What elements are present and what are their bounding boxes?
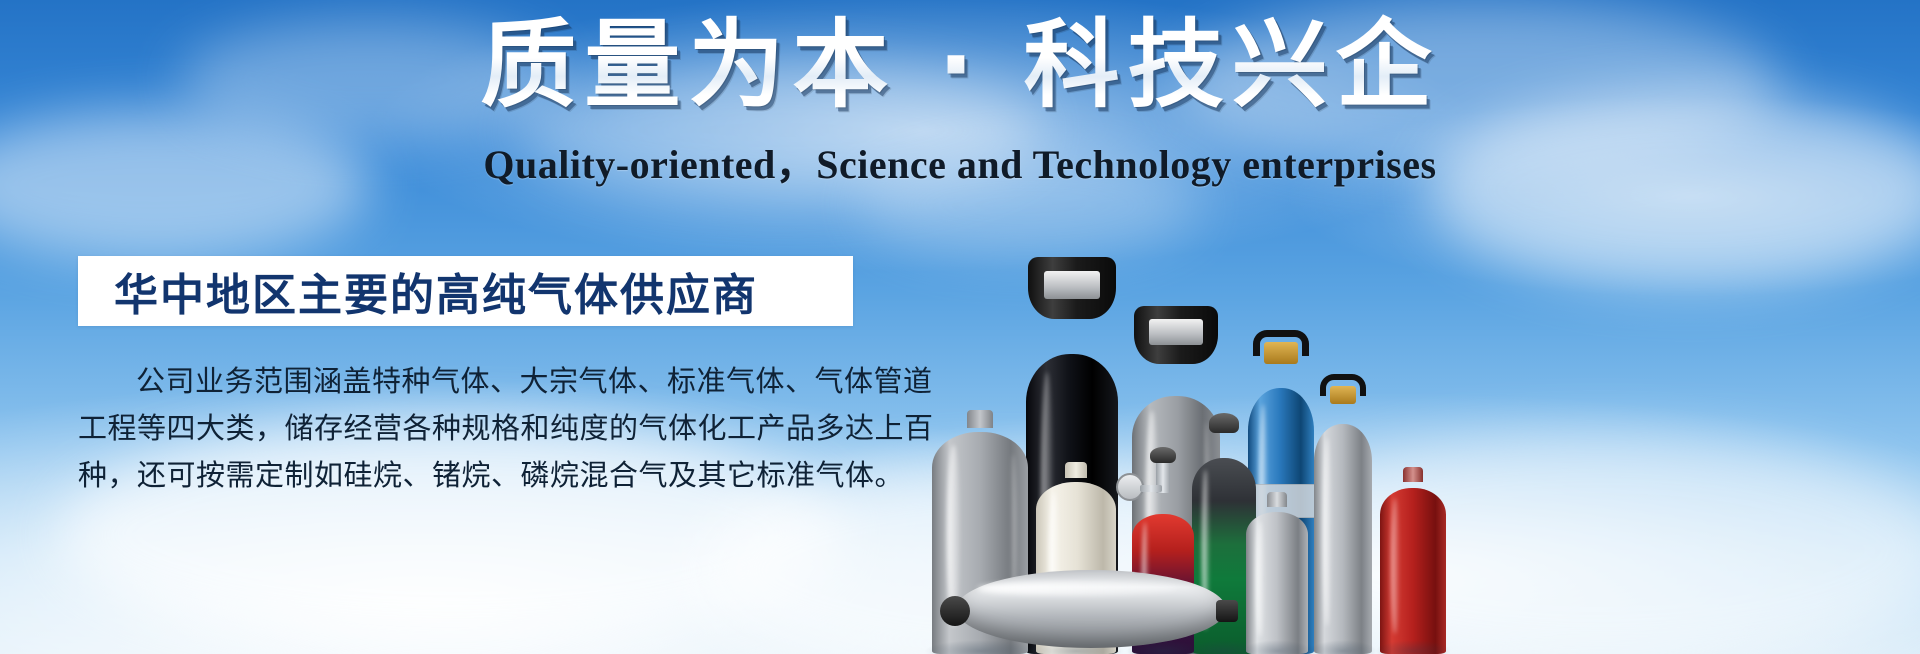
regulator-arm (1140, 485, 1162, 492)
description-paragraph: 公司业务范围涵盖特种气体、大宗气体、标准气体、气体管道 工程等四大类，储存经营各… (78, 358, 868, 499)
headline-container: 质量为本 · 科技兴企 (0, 14, 1920, 118)
headline-text: 质量为本 · 科技兴企 (480, 14, 1439, 118)
cap-window (1044, 271, 1100, 300)
tank-outlet (1216, 600, 1238, 622)
tank-highlight (978, 582, 1178, 594)
highlight-text: 华中地区主要的高纯气体供应商 (78, 259, 758, 323)
cylinder-body (1246, 512, 1308, 654)
red-cylinder (1380, 479, 1446, 654)
cylinder-shadow (1309, 640, 1376, 654)
gas-cylinder-group-image (940, 134, 1920, 654)
aluminium-short-cylinder (1246, 504, 1308, 654)
valve-knob (1209, 413, 1239, 433)
cylinder-cap (1134, 306, 1218, 364)
cap-window (1149, 319, 1203, 346)
cylinder-body (1314, 424, 1372, 654)
aluminium-cylinder (1314, 404, 1372, 654)
brass-valve (1330, 386, 1356, 404)
cylinder-highlight (1256, 521, 1264, 637)
cylinder-neck (1403, 467, 1423, 482)
paragraph-line-1: 公司业务范围涵盖特种气体、大宗气体、标准气体、气体管道 (78, 358, 868, 405)
highlight-box: 华中地区主要的高纯气体供应商 (78, 256, 853, 326)
tank-valve (940, 596, 970, 626)
paragraph-line-3: 种，还可按需定制如硅烷、锗烷、磷烷混合气及其它标准气体。 (78, 452, 868, 499)
cylinder-neck (1267, 492, 1287, 507)
cylinder-highlight (1323, 438, 1331, 627)
cylinder-neck (967, 410, 993, 428)
hero-banner: 质量为本 · 科技兴企 Quality-oriented，Science and… (0, 0, 1920, 654)
cylinder-neck (1065, 462, 1087, 478)
brass-valve (1264, 342, 1298, 364)
cylinder-body (1380, 488, 1446, 654)
paragraph-line-2: 工程等四大类，储存经营各种规格和纯度的气体化工产品多达上百 (78, 405, 868, 452)
valve-knob (1150, 447, 1176, 463)
cylinder-highlight (1391, 498, 1400, 634)
cylinder-cap (1028, 257, 1116, 319)
horizontal-tank (956, 570, 1226, 648)
